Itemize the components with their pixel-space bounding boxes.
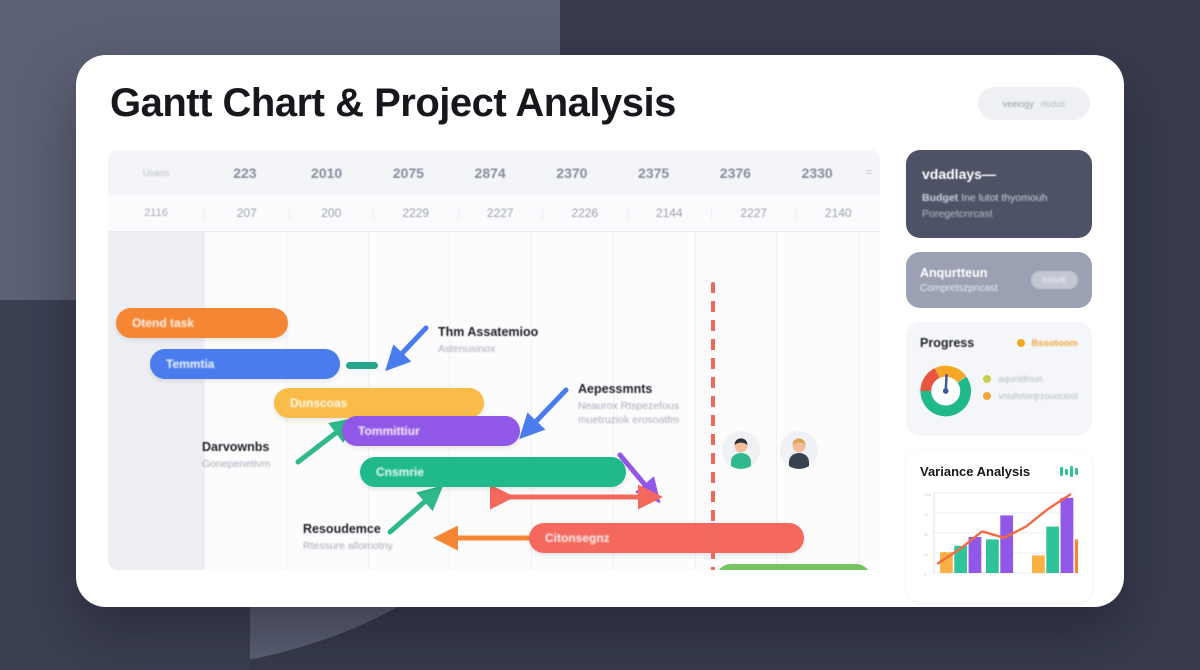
- variance-bar-chart: 1007550250: [920, 487, 1078, 583]
- variance-bar-purple-1: [1000, 515, 1013, 573]
- app-window: Gantt Chart & Project Analysis veeiogy r…: [76, 55, 1124, 607]
- variance-bar-green-2: [1046, 527, 1059, 573]
- gantt-bar-label: Temmtia: [166, 357, 214, 371]
- variance-bars-icon: [1060, 466, 1078, 477]
- progress-legend-item-1: vnuitotonjrzouociool: [983, 391, 1078, 401]
- progress-panel-title: Progress: [920, 336, 974, 350]
- gantt-bar-1[interactable]: Temmtia: [150, 349, 340, 379]
- variance-panel[interactable]: Variance Analysis 1007550250: [906, 450, 1092, 602]
- gantt-bar-label: Cnsmrie: [376, 465, 424, 479]
- annotation-heading: Thm Assatemioo: [438, 325, 538, 339]
- gridline-4: [531, 231, 532, 570]
- annotation-subtext: Rtessure allomotny: [303, 539, 393, 553]
- status-badge-left-label: veeiogy: [1003, 99, 1034, 109]
- deadline-panel-title: vdadlays—: [922, 166, 1076, 182]
- gantt-bar-label: Citonsegnz: [545, 531, 610, 545]
- deadline-panel-line1-rest: Ine lutot thyomouh: [961, 192, 1047, 204]
- annotation-heading: Aepessmnts: [578, 382, 679, 396]
- gantt-subheader-cell-1[interactable]: 200: [289, 206, 374, 220]
- variance-bar-orange2-2: [1075, 539, 1078, 573]
- gantt-bar-5[interactable]: Citonsegnz: [529, 523, 804, 553]
- gridline-6: [695, 231, 696, 570]
- gantt-header-cell-6[interactable]: 2376: [695, 165, 777, 181]
- legend-label: aqunidinun: [998, 374, 1042, 384]
- right-sidebar: vdadlays— Budget Ine lutot thyomouh Pore…: [906, 150, 1092, 616]
- variance-ytick-0: 100: [924, 492, 931, 497]
- gantt-bar-6[interactable]: Temctonsa: [716, 564, 871, 570]
- legend-dot-icon: [983, 375, 991, 383]
- gantt-chart-panel[interactable]: Usaon 2232010207528742370237523762330 = …: [108, 150, 880, 570]
- annotation-subtext: Gonepenetivm: [202, 457, 270, 471]
- gantt-annotation-2: DarvownbsGonepenetivm: [202, 440, 270, 471]
- status-badge[interactable]: veeiogy rlodus: [978, 87, 1090, 120]
- annotation-subtext: Astenusinox: [438, 342, 538, 356]
- annotation-heading: Darvownbs: [202, 440, 270, 454]
- gantt-header-cell-2[interactable]: 2075: [368, 165, 450, 181]
- annotation-heading: Resoudemce: [303, 522, 393, 536]
- gantt-bar-label: Otend task: [132, 316, 194, 330]
- gantt-subheader-cell-4[interactable]: 2226: [542, 206, 627, 220]
- gridline-8: [858, 231, 859, 570]
- variance-bar-purple-0: [969, 537, 982, 573]
- status-badge-right-label: rlodus: [1041, 99, 1066, 109]
- page-title: Gantt Chart & Project Analysis: [110, 81, 676, 126]
- gantt-bar-4[interactable]: Cnsmrie: [360, 457, 626, 487]
- progress-panel-badge: Bssotoom: [1017, 338, 1078, 349]
- gantt-subheader-cell-3[interactable]: 2227: [458, 206, 543, 220]
- progress-badge-dot-icon: [1017, 339, 1025, 347]
- gridline-7: [776, 231, 777, 570]
- variance-bar-orange-2: [1032, 555, 1045, 573]
- gantt-header-cell-0[interactable]: 223: [204, 165, 286, 181]
- gantt-header-row-secondary: 2116 207200222922272226214422272140: [108, 195, 880, 232]
- deadline-panel[interactable]: vdadlays— Budget Ine lutot thyomouh Pore…: [906, 150, 1092, 238]
- progress-legend-item-0: aqunidinun: [983, 374, 1078, 384]
- gantt-gridlines: [108, 231, 880, 570]
- gantt-header-primary-cells: 2232010207528742370237523762330: [204, 165, 858, 181]
- gantt-header-secondary-cells: 207200222922272226214422272140: [204, 206, 880, 220]
- avatar-green-icon[interactable]: [722, 431, 760, 469]
- progress-panel-body: aqunidinunvnuitotonjrzouociool: [920, 360, 1078, 422]
- variance-ytick-1: 75: [924, 512, 929, 517]
- screenshot-root: Gantt Chart & Project Analysis veeiogy r…: [0, 0, 1200, 670]
- gantt-bar-label: Dunscoas: [290, 396, 347, 410]
- gantt-header-cell-7[interactable]: 2330: [776, 165, 858, 181]
- adjustment-panel-subtitle: Compretszpncast: [920, 283, 998, 294]
- gantt-header-cell-5[interactable]: 2375: [613, 165, 695, 181]
- deadline-panel-line1-strong: Budget: [922, 192, 958, 204]
- gantt-bar-label: Tommittiur: [358, 424, 420, 438]
- progress-legend: aqunidinunvnuitotonjrzouociool: [983, 374, 1078, 408]
- adjustment-panel-title: Anqurtteun: [920, 266, 998, 280]
- gantt-header-end-marker[interactable]: =: [858, 167, 880, 179]
- gantt-header-cell-1[interactable]: 2010: [286, 165, 368, 181]
- variance-bar-green-1: [986, 539, 999, 573]
- variance-ytick-4: 0: [924, 572, 927, 577]
- deadline-panel-line2: Poregetcnrcast: [922, 208, 1076, 220]
- gridline-0: [204, 231, 205, 570]
- gantt-milestone-dash[interactable]: [346, 362, 378, 369]
- variance-ytick-3: 25: [924, 552, 929, 557]
- deadline-panel-line1: Budget Ine lutot thyomouh: [922, 192, 1076, 204]
- adjustment-panel-chip[interactable]: tmiv/K: [1031, 271, 1078, 289]
- progress-panel[interactable]: Progress Bssotoom aqunidi: [906, 322, 1092, 436]
- gantt-bar-2[interactable]: Dunscoas: [274, 388, 484, 418]
- annotation-subtext: Neaurox Rtspezefousmuetruziok erosoatfm: [578, 399, 679, 427]
- gantt-subheader-cell-2[interactable]: 2229: [373, 206, 458, 220]
- gantt-header-cell-3[interactable]: 2874: [449, 165, 531, 181]
- gantt-subheader-cell-6[interactable]: 2227: [711, 206, 796, 220]
- adjustment-panel[interactable]: Anqurtteun Compretszpncast tmiv/K: [906, 252, 1092, 308]
- gantt-bar-3[interactable]: Tommittiur: [342, 416, 520, 446]
- gantt-corner-label: Usaon: [108, 168, 204, 178]
- variance-panel-header: Variance Analysis: [920, 464, 1078, 479]
- gantt-header-cell-4[interactable]: 2370: [531, 165, 613, 181]
- adjustment-panel-text: Anqurtteun Compretszpncast: [920, 266, 998, 294]
- gantt-subheader-cell-0[interactable]: 207: [204, 206, 289, 220]
- progress-badge-label: Bssotoom: [1032, 338, 1078, 349]
- variance-ytick-2: 50: [924, 532, 929, 537]
- gantt-subheader-cell-5[interactable]: 2144: [627, 206, 712, 220]
- gantt-annotation-1: AepessmntsNeaurox Rtspezefousmuetruziok …: [578, 382, 679, 427]
- variance-panel-title: Variance Analysis: [920, 464, 1030, 479]
- gantt-annotation-3: ResoudemceRtessure allomotny: [303, 522, 393, 553]
- variance-bar-purple-2: [1061, 498, 1074, 573]
- gantt-bar-0[interactable]: Otend task: [116, 308, 288, 338]
- gantt-header-row-primary: Usaon 2232010207528742370237523762330 =: [108, 150, 880, 196]
- legend-label: vnuitotonjrzouociool: [998, 391, 1078, 401]
- gantt-today-line: [711, 282, 715, 570]
- progress-gauge-icon: [920, 360, 971, 422]
- gantt-corner-sublabel: 2116: [108, 207, 204, 219]
- avatar-dark-icon[interactable]: [780, 431, 818, 469]
- legend-dot-icon: [983, 392, 991, 400]
- gantt-subheader-cell-7[interactable]: 2140: [796, 206, 881, 220]
- gantt-annotation-0: Thm AssatemiooAstenusinox: [438, 325, 538, 356]
- progress-panel-header: Progress Bssotoom: [920, 336, 1078, 350]
